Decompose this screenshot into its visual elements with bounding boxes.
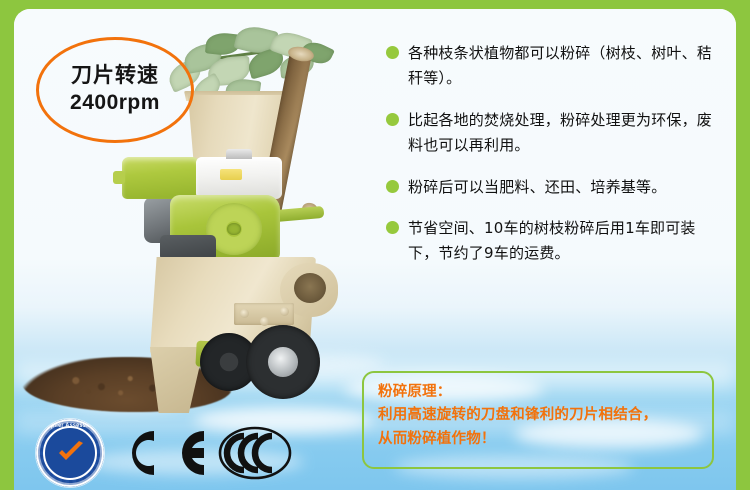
certification-badges: Supplier Assessment xyxy=(32,417,272,490)
principle-line-3: 从而粉碎植作物！ xyxy=(378,428,700,451)
bullet-dot-icon xyxy=(386,221,399,234)
feature-text: 节省空间、10车的树枝粉碎后用1车即可装下，节约了9车的运费。 xyxy=(408,216,716,266)
content-panel: 刀片转速 2400rpm 各种枝条状植物都可以粉碎（树枝、树叶、秸秆等）。 比起… xyxy=(14,9,736,490)
bullet-dot-icon xyxy=(386,113,399,126)
feature-item: 比起各地的焚烧处理，粉碎处理更为环保，废料也可以再利用。 xyxy=(386,108,716,158)
housing-bolt xyxy=(260,317,269,326)
housing-bolt xyxy=(240,309,249,318)
feature-text: 比起各地的焚烧处理，粉碎处理更为环保，废料也可以再利用。 xyxy=(408,108,716,158)
engine-fuel-cap xyxy=(226,149,252,159)
seal-label: Supplier Assessment xyxy=(36,423,104,430)
ce-mark-icon xyxy=(118,425,210,481)
feature-item: 节省空间、10车的树枝粉碎后用1车即可装下，节约了9车的运费。 xyxy=(386,216,716,266)
speed-callout: 刀片转速 2400rpm xyxy=(36,37,194,143)
wheel-front xyxy=(246,325,320,399)
bullet-dot-icon xyxy=(386,46,399,59)
principle-box: 粉碎原理： 利用高速旋转的刀盘和锋利的刀片相结合， 从而粉碎植作物！ xyxy=(362,371,714,469)
feature-item: 各种枝条状植物都可以粉碎（树枝、树叶、秸秆等）。 xyxy=(386,41,716,91)
housing-bolt xyxy=(280,307,289,316)
principle-title: 粉碎原理： xyxy=(378,381,700,404)
discharge-opening xyxy=(294,273,326,303)
callout-line-1: 刀片转速 xyxy=(71,63,159,90)
bullet-dot-icon xyxy=(386,180,399,193)
feature-list: 各种枝条状植物都可以粉碎（树枝、树叶、秸秆等）。 比起各地的焚烧处理，粉碎处理更… xyxy=(386,41,716,283)
feature-item: 粉碎后可以当肥料、还田、培养基等。 xyxy=(386,175,716,200)
product-banner: 刀片转速 2400rpm 各种枝条状植物都可以粉碎（树枝、树叶、秸秆等）。 比起… xyxy=(0,0,750,490)
callout-line-2: 2400rpm xyxy=(70,90,160,117)
principle-line-2: 利用高速旋转的刀盘和锋利的刀片相结合， xyxy=(378,404,700,427)
checkmark-icon xyxy=(56,441,86,465)
engine-fuel-tank xyxy=(196,157,282,199)
engine-air-filter xyxy=(122,157,200,199)
feature-text: 各种枝条状植物都可以粉碎（树枝、树叶、秸秆等）。 xyxy=(408,41,716,91)
feature-text: 粉碎后可以当肥料、还田、培养基等。 xyxy=(408,175,666,200)
ccc-mark-icon xyxy=(218,423,292,483)
supplier-assessment-seal-icon: Supplier Assessment xyxy=(36,419,104,487)
